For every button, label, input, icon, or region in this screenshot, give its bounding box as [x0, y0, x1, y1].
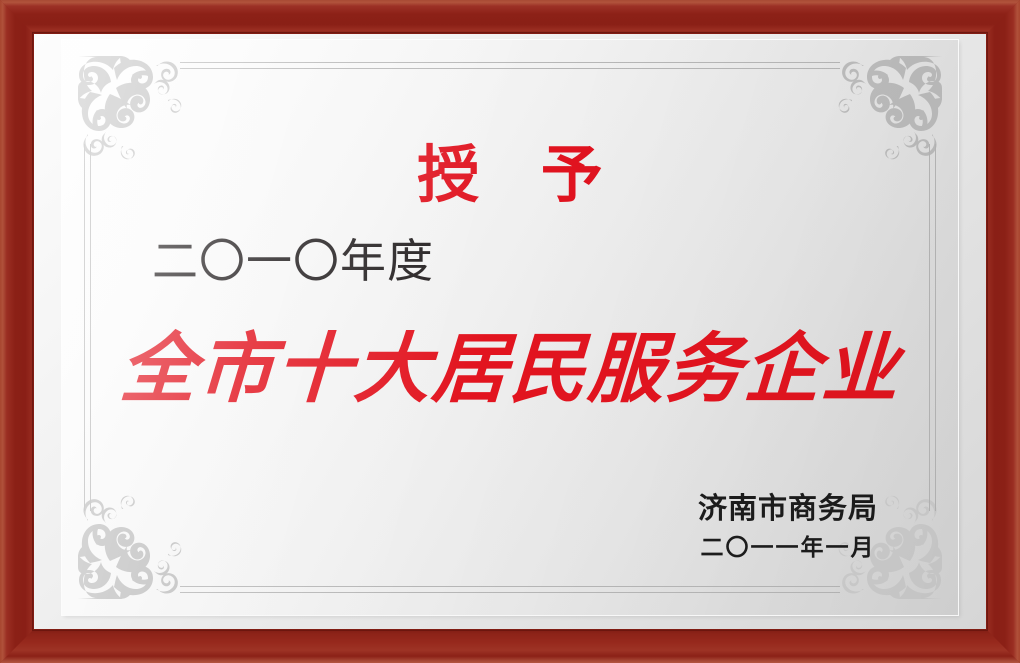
certificate-panel: 授 予 二〇一〇年度 全市十大居民服务企业 济南市商务局 二〇一一年一月: [62, 40, 958, 615]
issue-date: 二〇一一年一月: [698, 535, 878, 563]
award-title: 全市十大居民服务企业: [62, 328, 958, 410]
issuing-organization: 济南市商务局: [698, 490, 878, 526]
award-plaque: 授 予 二〇一〇年度 全市十大居民服务企业 济南市商务局 二〇一一年一月: [0, 0, 1020, 663]
award-headline: 授 予: [62, 144, 958, 206]
signature-block: 济南市商务局 二〇一一年一月: [698, 490, 878, 563]
certificate-content: 授 予 二〇一〇年度 全市十大居民服务企业 济南市商务局 二〇一一年一月: [62, 40, 958, 615]
award-year-line: 二〇一〇年度: [152, 238, 434, 284]
